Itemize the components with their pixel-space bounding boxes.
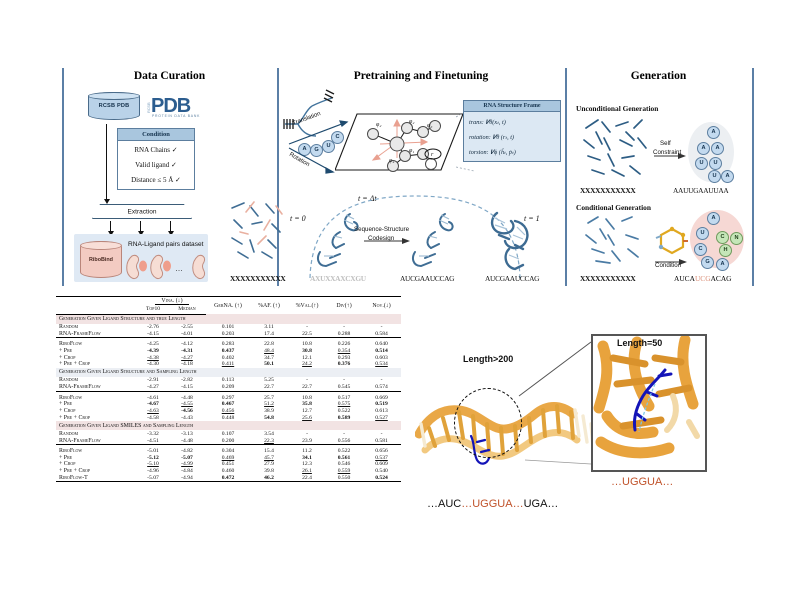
table-row: RNA-FrameFlow-4.27-4.150.20922.722.70.54… bbox=[56, 384, 401, 391]
condition-box-header: Condition bbox=[118, 129, 194, 141]
table-body: Generation Given Ligand Structure and tr… bbox=[56, 314, 401, 484]
table-row: RiboFlow-4.25-4.120.28322.810.80.2260.64… bbox=[56, 341, 401, 348]
table-section-header: Generation Given Ligand SMILES and Sampl… bbox=[56, 421, 401, 430]
sequence-partial: AXUXXAXCXGU bbox=[310, 274, 366, 283]
th-vina-label: Vina. (↓) bbox=[155, 298, 188, 305]
uncond-nt-2: A bbox=[697, 142, 710, 155]
table-row-method: + Pre bbox=[56, 454, 138, 461]
table-section-title: Generation Given Ligand Structure and tr… bbox=[56, 314, 401, 324]
table-cell: 30.8 bbox=[288, 348, 326, 355]
table-cell: -4.15 bbox=[168, 384, 206, 391]
uncond-nt-4: U bbox=[695, 157, 708, 170]
table-section-title: Generation Given Ligand Structure and Sa… bbox=[56, 368, 401, 377]
table-row: + Pre + Crop-4.58-4.430.44854.825.60.589… bbox=[56, 414, 401, 421]
table-cell: -3.13 bbox=[168, 430, 206, 437]
table-cell: 0.603 bbox=[362, 354, 401, 361]
table-cell: - bbox=[288, 430, 326, 437]
dataset-label: RNA-Ligand pairs dataset bbox=[128, 241, 204, 248]
zoom-region-circle bbox=[454, 388, 522, 458]
table-row: + Crop-4.38-4.270.40234.712.10.2930.603 bbox=[56, 354, 401, 361]
divider-mid-right bbox=[565, 68, 567, 286]
table-cell: 0.556 bbox=[326, 437, 362, 444]
panel-title-generation: Generation bbox=[565, 70, 752, 82]
table-cell: 0.669 bbox=[362, 394, 401, 401]
table-bottom-rule bbox=[56, 482, 401, 485]
table-cell: 0.402 bbox=[206, 354, 250, 361]
table-cell: 26.1 bbox=[288, 468, 326, 475]
rcsb-pdb-label: RCSB PDB bbox=[89, 103, 139, 109]
table-cell: -4.25 bbox=[138, 341, 168, 348]
table-cell: -4.63 bbox=[138, 408, 168, 415]
table-cell: 22.5 bbox=[288, 330, 326, 337]
table-cell: 0.546 bbox=[326, 461, 362, 468]
condition-box: Condition RNA Chains ✓ Valid ligand ✓ Di… bbox=[117, 128, 195, 190]
table-cell: 15.4 bbox=[250, 448, 288, 455]
table-cell: 0.524 bbox=[362, 475, 401, 482]
cond-ligand-atom-n: N bbox=[730, 232, 743, 245]
table-cell: 0.519 bbox=[362, 401, 401, 408]
table-cell: 25.6 bbox=[288, 414, 326, 421]
noise-fragments-t0 bbox=[228, 200, 286, 262]
table-cell: 0.456 bbox=[206, 408, 250, 415]
table-row: Random-3.32-3.130.1073.54--- bbox=[56, 430, 401, 437]
table-cell: -4.48 bbox=[168, 394, 206, 401]
table-cell: 22.3 bbox=[250, 437, 288, 444]
uncond-noise-fragments bbox=[580, 118, 652, 180]
table-cell: 0.522 bbox=[326, 448, 362, 455]
bottom-seq-highlight: …UGGUA… bbox=[461, 498, 523, 510]
table-cell: - bbox=[362, 430, 401, 437]
cond-output-sequence: AUCAUCGACAG bbox=[674, 274, 732, 283]
table-row-method: + Crop bbox=[56, 354, 138, 361]
table-row-method: RiboFlow-T bbox=[56, 475, 138, 482]
table-cell: 0.437 bbox=[206, 348, 250, 355]
table-cell: -4.84 bbox=[168, 468, 206, 475]
table-cell: 0.575 bbox=[326, 401, 362, 408]
table-row-method: RiboFlow bbox=[56, 394, 138, 401]
table-cell: 0.203 bbox=[206, 330, 250, 337]
figure-canvas: Data Curation Pretraining and Finetuning… bbox=[0, 0, 800, 600]
table-cell: 3.54 bbox=[250, 430, 288, 437]
table-cell: -5.07 bbox=[168, 454, 206, 461]
ribobind-cylinder-top bbox=[80, 241, 123, 250]
table-cell: -2.82 bbox=[168, 377, 206, 384]
table-cell: 0.540 bbox=[362, 468, 401, 475]
cond-rna-nt-a2: A bbox=[716, 258, 729, 271]
arrow-db-to-extraction bbox=[106, 124, 107, 200]
cond-rna-nt-g: G bbox=[701, 256, 714, 269]
table-cell: -4.51 bbox=[138, 437, 168, 444]
table-cell: 0.534 bbox=[362, 361, 401, 368]
rna-structure-frame-header: RNA Structure Frame bbox=[464, 101, 560, 112]
table-row: + Pre-4.39-4.310.43748.430.80.3540.514 bbox=[56, 348, 401, 355]
table-cell: 34.1 bbox=[288, 454, 326, 461]
bottom-seq-prefix: …AUC bbox=[427, 498, 461, 510]
table-cell: 0.561 bbox=[326, 454, 362, 461]
cond-output-highlight: UCG bbox=[695, 274, 711, 283]
table-cell: 0.107 bbox=[206, 430, 250, 437]
table-cell: - bbox=[326, 377, 362, 384]
ligand-hexagon-icon bbox=[655, 224, 689, 258]
rna-helix-zoomed bbox=[593, 336, 701, 466]
uncond-nt-6: U bbox=[708, 170, 721, 183]
divider-left bbox=[62, 68, 64, 286]
table-cell: 0.584 bbox=[362, 330, 401, 337]
table-cell: 22.7 bbox=[288, 384, 326, 391]
table-cell: 0.451 bbox=[206, 461, 250, 468]
th-blank bbox=[56, 306, 138, 314]
table-cell: 22.7 bbox=[250, 384, 288, 391]
codesign-label-line2: Codesign bbox=[368, 235, 394, 242]
table-row-method: RNA-FrameFlow bbox=[56, 330, 138, 337]
table-cell: -4.56 bbox=[168, 408, 206, 415]
rna-visualization-area: Length>200 bbox=[415, 330, 800, 565]
table-row-method: + Pre + Crop bbox=[56, 361, 138, 368]
table-cell: 10.8 bbox=[288, 394, 326, 401]
table-row-method: + Pre + Crop bbox=[56, 414, 138, 421]
table-cell: -4.55 bbox=[168, 401, 206, 408]
ribobind-label: RiboBind bbox=[81, 257, 121, 263]
table-cell: 48.4 bbox=[250, 348, 288, 355]
frame-row-rotation: rotation: 𝑽θ (rₜ, t) bbox=[469, 134, 514, 142]
th-method bbox=[56, 297, 138, 307]
table-row-method: + Pre bbox=[56, 401, 138, 408]
cond-noise-fragments bbox=[582, 215, 652, 267]
table-row: RNA-FrameFlow-4.51-4.480.20022.323.90.55… bbox=[56, 437, 401, 444]
table-cell: -4.12 bbox=[168, 341, 206, 348]
table-cell: 0.200 bbox=[206, 437, 250, 444]
table-cell: -4.39 bbox=[138, 348, 168, 355]
th-vina-top10: Top10 bbox=[138, 306, 168, 314]
table-row-method: Random bbox=[56, 377, 138, 384]
results-table: Vina. (↓) GerNA. (↑) %AF. (↑) %Val.(↑) D… bbox=[56, 296, 401, 484]
table-cell: 12.1 bbox=[288, 354, 326, 361]
table-row: RiboFlow-4.61-4.480.29725.710.80.5170.66… bbox=[56, 394, 401, 401]
torsion-frame-parallelogram: φ₂ φ₂ φ₃ φ₄ φ₁ r bbox=[335, 112, 465, 174]
ribobind-cylinder: RiboBind bbox=[80, 241, 122, 278]
table-cell: 0.517 bbox=[326, 394, 362, 401]
table-cell: -4.01 bbox=[168, 330, 206, 337]
table-cell: 0.304 bbox=[206, 448, 250, 455]
table-cell: 0.559 bbox=[326, 468, 362, 475]
rcsb-pdb-cylinder: RCSB PDB bbox=[88, 92, 140, 120]
condition-item-distance: Distance ≤ 5 Å ✓ bbox=[118, 176, 194, 184]
frame-row-torsion: torsion: 𝑽ϕ (ĥₜ, ṗₜ) bbox=[469, 149, 516, 157]
extraction-label: Extraction bbox=[93, 208, 191, 215]
uncond-input-sequence: XXXXXXXXXXX bbox=[580, 186, 635, 195]
table-cell: - bbox=[326, 324, 362, 331]
table-row-method: Random bbox=[56, 324, 138, 331]
length-zoom-label: Length=50 bbox=[617, 338, 662, 348]
table-section-header: Generation Given Ligand Structure and tr… bbox=[56, 314, 401, 324]
extraction-trapezoid: Extraction bbox=[92, 204, 192, 219]
table-cell: 0.522 bbox=[326, 408, 362, 415]
table-cell: 0.297 bbox=[206, 394, 250, 401]
table-cell: 0.460 bbox=[206, 468, 250, 475]
svg-text:φ₂: φ₂ bbox=[409, 119, 414, 125]
table-cell: 0.527 bbox=[362, 414, 401, 421]
table-row: RiboFlow-T-5.07-4.940.47246.222.40.5500.… bbox=[56, 475, 401, 482]
table-cell: - bbox=[288, 324, 326, 331]
table-cell: -2.76 bbox=[138, 324, 168, 331]
table-cell: 0.448 bbox=[206, 414, 250, 421]
table-cell: 24.2 bbox=[288, 361, 326, 368]
table-cell: 50.1 bbox=[250, 361, 288, 368]
table-cell: 0.537 bbox=[362, 454, 401, 461]
table-cell: 12.7 bbox=[288, 408, 326, 415]
self-constraint-line2: Constraint bbox=[653, 149, 681, 156]
table-cell: 54.8 bbox=[250, 414, 288, 421]
sequence-final: AUCGAAUCCAG bbox=[485, 274, 539, 283]
condition-item-valid-ligand: Valid ligand ✓ bbox=[118, 161, 194, 169]
table-cell: 22.8 bbox=[250, 341, 288, 348]
length-big-label: Length>200 bbox=[463, 354, 513, 364]
self-constraint-line1: Self bbox=[660, 140, 671, 147]
codesign-label-line1: Sequence-Structure bbox=[354, 226, 409, 233]
uncond-nt-3: A bbox=[711, 142, 724, 155]
table-cell: 25.7 bbox=[250, 394, 288, 401]
table-cell: - bbox=[288, 377, 326, 384]
table-cell: -4.27 bbox=[138, 384, 168, 391]
th-div: Div(↑) bbox=[326, 297, 362, 315]
zoom-sequence-label: …UGGUA… bbox=[611, 476, 673, 488]
sequence-x-noise: XXXXXXXXXXX bbox=[230, 274, 285, 283]
condition-arrow-label: Condition bbox=[655, 262, 681, 269]
table-cell: 38.9 bbox=[250, 408, 288, 415]
table-row: RNA-FrameFlow-4.15-4.010.20317.422.50.28… bbox=[56, 330, 401, 337]
table-cell: -2.91 bbox=[138, 377, 168, 384]
frame-row-trans: trans: 𝑽θ(xₜ, t) bbox=[469, 119, 506, 127]
table-cell: -3.32 bbox=[138, 430, 168, 437]
table-cell: 11.2 bbox=[288, 448, 326, 455]
cond-output-suffix: ACAG bbox=[711, 274, 732, 283]
rna-structure-mid-2 bbox=[405, 210, 461, 272]
table-cell: 3.11 bbox=[250, 324, 288, 331]
table-cell: 0.550 bbox=[326, 475, 362, 482]
table-cell: 0.545 bbox=[326, 384, 362, 391]
th-af: %AF. (↑) bbox=[250, 297, 288, 315]
table-cell: 5.25 bbox=[250, 377, 288, 384]
table-cell: - bbox=[362, 324, 401, 331]
conditional-generation-title: Conditional Generation bbox=[576, 203, 651, 212]
table-row-method: + Crop bbox=[56, 408, 138, 415]
table-cell: 0.472 bbox=[206, 475, 250, 482]
table-cell: 0.101 bbox=[206, 324, 250, 331]
table-cell: 12.3 bbox=[288, 461, 326, 468]
cond-output-prefix: AUCA bbox=[674, 274, 695, 283]
table-cell: -4.38 bbox=[138, 354, 168, 361]
ligand-pair-icons: … bbox=[126, 252, 206, 280]
table-cell: 0.581 bbox=[362, 437, 401, 444]
table-row-method: RiboFlow bbox=[56, 448, 138, 455]
table-cell: 0.283 bbox=[206, 341, 250, 348]
unconditional-generation-title: Unconditional Generation bbox=[576, 104, 658, 113]
table-row-method: + Crop bbox=[56, 461, 138, 468]
table-header-row-1: Vina. (↓) GerNA. (↑) %AF. (↑) %Val.(↑) D… bbox=[56, 297, 401, 307]
table-row: + Pre + Crop-4.96-4.840.46039.826.10.559… bbox=[56, 468, 401, 475]
table-row: + Pre-5.12-5.070.46945.734.10.5610.537 bbox=[56, 454, 401, 461]
table-row: + Pre-4.67-4.550.46751.235.80.5750.519 bbox=[56, 401, 401, 408]
th-val: %Val.(↑) bbox=[288, 297, 326, 315]
cond-rna-nt-c: C bbox=[694, 243, 707, 256]
results-table-wrapper: Vina. (↓) GerNA. (↑) %AF. (↑) %Val.(↑) D… bbox=[56, 296, 401, 484]
table-row: Random-2.91-2.820.1135.25--- bbox=[56, 377, 401, 384]
pdb-logo-subtitle: PROTEIN DATA BANK bbox=[152, 114, 200, 118]
table-cell: 0.226 bbox=[326, 341, 362, 348]
table-cell: 51.2 bbox=[250, 401, 288, 408]
rna-structure-frame-box: RNA Structure Frame trans: 𝑽θ(xₜ, t) rot… bbox=[463, 100, 561, 162]
table-cell: 0.656 bbox=[362, 448, 401, 455]
table-cell: 10.8 bbox=[288, 341, 326, 348]
table-row-method: + Pre + Crop bbox=[56, 468, 138, 475]
table-row-method: RNA-FrameFlow bbox=[56, 384, 138, 391]
table-section-title: Generation Given Ligand SMILES and Sampl… bbox=[56, 421, 401, 430]
table-cell: 0.589 bbox=[326, 414, 362, 421]
table-row: RiboFlow-5.01-4.820.30415.411.20.5220.65… bbox=[56, 448, 401, 455]
th-gerna: GerNA. (↑) bbox=[206, 297, 250, 315]
svg-text:φ₂: φ₂ bbox=[376, 122, 381, 128]
svg-text:φ₄: φ₄ bbox=[389, 158, 394, 164]
cond-rna-nt-a1: A bbox=[707, 212, 720, 225]
svg-text:φ₃: φ₃ bbox=[427, 123, 432, 129]
table-cell: -5.07 bbox=[138, 475, 168, 482]
table-cell: 17.4 bbox=[250, 330, 288, 337]
rna-structure-final bbox=[485, 205, 543, 275]
table-cell: 34.7 bbox=[250, 354, 288, 361]
arrow-extract-3 bbox=[170, 221, 171, 232]
table-cell: - bbox=[362, 377, 401, 384]
table-cell: -4.31 bbox=[168, 348, 206, 355]
cond-rna-nt-u: U bbox=[696, 227, 709, 240]
table-cell: 22.4 bbox=[288, 475, 326, 482]
table-cell: -5.10 bbox=[138, 461, 168, 468]
table-row-method: RiboFlow bbox=[56, 341, 138, 348]
svg-text:φ₁: φ₁ bbox=[409, 148, 414, 154]
table-row-method: + Pre bbox=[56, 348, 138, 355]
table-cell: 0.354 bbox=[326, 348, 362, 355]
table-cell: 0.613 bbox=[362, 408, 401, 415]
uncond-output-sequence: AAUUGAAUUAA bbox=[673, 186, 728, 195]
table-cell: -4.82 bbox=[168, 448, 206, 455]
table-row: Random-2.76-2.550.1013.11--- bbox=[56, 324, 401, 331]
table-cell: 27.9 bbox=[250, 461, 288, 468]
arrow-extract-1 bbox=[110, 221, 111, 232]
table-row: + Crop-4.63-4.560.45638.912.70.5220.613 bbox=[56, 408, 401, 415]
rna-structure-mid-1 bbox=[310, 210, 366, 272]
table-cell: 23.9 bbox=[288, 437, 326, 444]
table-cell: 0.209 bbox=[206, 384, 250, 391]
panel-title-pretraining: Pretraining and Finetuning bbox=[277, 70, 565, 82]
table-cell: 0.640 bbox=[362, 341, 401, 348]
bottom-sequence-label: …AUC…UGGUA…UGA… bbox=[427, 498, 558, 510]
arrow-extract-2 bbox=[140, 221, 141, 232]
table-cell: 0.288 bbox=[326, 330, 362, 337]
th-vina-median: Median bbox=[168, 306, 206, 314]
cond-ligand-atom-h: H bbox=[719, 244, 732, 257]
table-cell: -4.43 bbox=[168, 414, 206, 421]
table-cell: -4.30 bbox=[138, 361, 168, 368]
panel-title-data-curation: Data Curation bbox=[62, 70, 277, 82]
table-cell: 0.514 bbox=[362, 348, 401, 355]
table-cell: 0.113 bbox=[206, 377, 250, 384]
table-cell: 0.574 bbox=[362, 384, 401, 391]
sequence-mid: AUCGAAUCCAG bbox=[400, 274, 454, 283]
table-cell: -4.94 bbox=[168, 475, 206, 482]
table-cell: -4.99 bbox=[168, 461, 206, 468]
table-cell: - bbox=[326, 430, 362, 437]
table-cell: -4.67 bbox=[138, 401, 168, 408]
table-row: + Crop-5.10-4.990.45127.912.30.5460.609 bbox=[56, 461, 401, 468]
table-cell: 0.609 bbox=[362, 461, 401, 468]
uncond-nt-7: A bbox=[721, 170, 734, 183]
table-cell: -4.15 bbox=[138, 330, 168, 337]
cylinder-top bbox=[88, 92, 141, 100]
table-cell: -4.96 bbox=[138, 468, 168, 475]
table-row-method: RNA-FrameFlow bbox=[56, 437, 138, 444]
cond-ligand-atom-c: C bbox=[716, 231, 729, 244]
table-cell: 0.467 bbox=[206, 401, 250, 408]
table-cell: 0.293 bbox=[326, 354, 362, 361]
divider-right bbox=[752, 68, 754, 286]
cond-input-sequence: XXXXXXXXXXX bbox=[580, 274, 635, 283]
table-cell: 0.411 bbox=[206, 361, 250, 368]
table-cell: -5.01 bbox=[138, 448, 168, 455]
table-cell: -4.27 bbox=[168, 354, 206, 361]
condition-item-rna-chains: RNA Chains ✓ bbox=[118, 146, 194, 154]
table-cell: 39.8 bbox=[250, 468, 288, 475]
table-cell: -5.12 bbox=[138, 454, 168, 461]
bottom-seq-suffix: UGA… bbox=[524, 498, 559, 510]
th-vina: Vina. (↓) bbox=[138, 297, 206, 307]
zoom-inset-panel: Length=50 bbox=[591, 334, 707, 472]
table-section-header: Generation Given Ligand Structure and Sa… bbox=[56, 368, 401, 377]
table-cell: -4.61 bbox=[138, 394, 168, 401]
table-cell: -4.48 bbox=[168, 437, 206, 444]
table-cell: -4.18 bbox=[168, 361, 206, 368]
uncond-nt-1: A bbox=[707, 126, 720, 139]
table-cell: 45.7 bbox=[250, 454, 288, 461]
uncond-nt-5: U bbox=[709, 157, 722, 170]
table-cell: -2.55 bbox=[168, 324, 206, 331]
table-cell: 35.8 bbox=[288, 401, 326, 408]
table-cell: 0.376 bbox=[326, 361, 362, 368]
th-nov: Nov.(↓) bbox=[362, 297, 401, 315]
table-bottom-rule-cell bbox=[56, 482, 401, 485]
zoom-leader-lines bbox=[515, 338, 595, 468]
table-row: + Pre + Crop-4.30-4.180.41150.124.20.376… bbox=[56, 361, 401, 368]
svg-text:…: … bbox=[175, 264, 183, 273]
table-cell: -4.58 bbox=[138, 414, 168, 421]
table-cell: 0.469 bbox=[206, 454, 250, 461]
table-row-method: Random bbox=[56, 430, 138, 437]
table-cell: 46.2 bbox=[250, 475, 288, 482]
